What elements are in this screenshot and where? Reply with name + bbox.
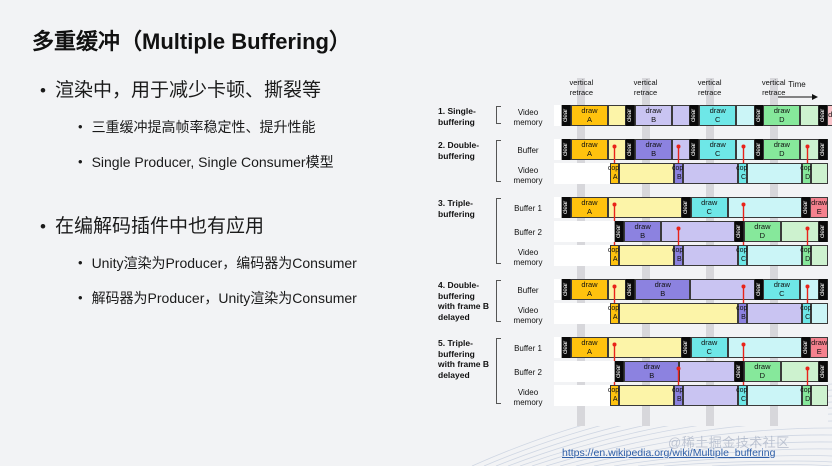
row-label-line2: memory — [514, 176, 543, 185]
clear-block: clear — [690, 105, 699, 126]
clear-block: clear — [562, 337, 571, 358]
row-label-text: Buffer — [517, 146, 538, 155]
timeline-track: cleardrawBcleardrawDclear — [554, 221, 828, 242]
draw-block: drawC — [763, 279, 800, 300]
draw-block: drawE — [810, 197, 828, 218]
row-label-text: Buffer 2 — [514, 368, 542, 377]
bullet-level2-1: • 三重缓冲提高帧率稳定性、提升性能 — [78, 116, 458, 138]
copy-block: copyD — [802, 385, 811, 406]
hold-block — [811, 163, 827, 184]
bullet-marker: • — [78, 287, 83, 309]
bullet-text: 三重缓冲提高帧率稳定性、提升性能 — [92, 116, 316, 138]
row-label-buffer-1: Buffer 1 — [504, 344, 552, 354]
buffering-group-5: 5. Triple-buffering with frame B delayed… — [438, 336, 828, 408]
draw-block: drawD — [763, 105, 800, 126]
idle-block — [781, 221, 819, 242]
timeline-track: copyAcopyBcopyC — [554, 303, 828, 324]
bullet-marker: • — [78, 151, 83, 173]
timeline-track: copyAcopyBcopyCcopyD — [554, 245, 828, 266]
retrace-word-1: vertical — [698, 78, 722, 87]
draw-block: drawC — [699, 105, 736, 126]
row-label-line2: memory — [514, 258, 543, 267]
clear-block: clear — [735, 221, 744, 242]
draw-frame-id: B — [640, 232, 645, 241]
row-label-line2: memory — [514, 118, 543, 127]
draw-frame-id: C — [715, 150, 720, 159]
row-label-buffer-1: Buffer 1 — [504, 204, 552, 214]
group-bracket-3 — [496, 198, 501, 264]
draw-frame-id: B — [660, 290, 665, 299]
clear-block: clear — [615, 361, 624, 382]
draw-frame-id: A — [587, 116, 592, 125]
bullet-marker: • — [40, 214, 46, 240]
draw-frame-id: C — [779, 290, 784, 299]
buffering-group-3: 3. Triple-bufferingBuffer 1cleardrawAcle… — [438, 196, 828, 268]
watermark: @稀土掘金技术社区 — [668, 432, 790, 451]
group-title-1: 1. Single-buffering — [438, 106, 492, 127]
draw-block: drawD — [744, 221, 781, 242]
row-label-buffer: Buffer — [504, 146, 552, 156]
draw-block: drawE — [810, 337, 828, 358]
clear-block: clear — [562, 139, 571, 160]
idle-block — [661, 221, 735, 242]
bullet-level1-2: • 在编解码插件中也有应用 — [40, 214, 458, 240]
draw-frame-id: C — [707, 348, 712, 357]
draw-frame-id: B — [651, 116, 656, 125]
draw-block: drawA — [571, 337, 608, 358]
row-label-line1: Video — [518, 166, 538, 175]
timeline-track: cleardrawAcleardrawBcleardrawCcleardrawD… — [554, 139, 828, 160]
buffering-group-4: 4. Double-buffering with frame B delayed… — [438, 278, 828, 326]
group-title-4: 4. Double-buffering with frame B delayed — [438, 280, 492, 322]
row-label-buffer-2: Buffer 2 — [504, 228, 552, 238]
hold-block — [811, 245, 827, 266]
clear-block: clear — [819, 361, 828, 382]
draw-frame-id: B — [649, 372, 654, 381]
row-label-text: Buffer 1 — [514, 344, 542, 353]
copy-block: copyD — [802, 163, 811, 184]
idle-block — [679, 361, 735, 382]
hold-block — [619, 385, 674, 406]
draw-block: drawC — [699, 139, 736, 160]
copy-block: copyB — [674, 163, 683, 184]
timeline-track: cleardrawAcleardrawCcleardrawE — [554, 197, 828, 218]
clear-block: clear — [626, 139, 635, 160]
row-label-line1: Video — [518, 248, 538, 257]
bullet-marker: • — [78, 116, 83, 138]
idle-block — [672, 105, 690, 126]
draw-block: drawD — [744, 361, 781, 382]
hold-block — [747, 303, 802, 324]
bullet-text: 渲染中，用于减少卡顿、撕裂等 — [55, 78, 321, 104]
draw-frame-id: B — [651, 150, 656, 159]
idle-block — [608, 105, 626, 126]
idle-block — [781, 361, 819, 382]
timeline-track: cleardrawBcleardrawDclear — [554, 361, 828, 382]
bullet-level2-2: • Single Producer, Single Consumer模型 — [78, 151, 458, 173]
group-bracket-4 — [496, 280, 501, 322]
timeline-track: copyAcopyBcopyCcopyD — [554, 163, 828, 184]
hold-block — [747, 163, 802, 184]
clear-block: clear — [682, 197, 691, 218]
bullet-level2-3: • Unity渲染为Producer，编码器为Consumer — [78, 252, 458, 274]
group-bracket-2 — [496, 140, 501, 182]
row-label-video-memory: Videomemory — [504, 108, 552, 127]
copy-block: copyC — [738, 385, 747, 406]
draw-frame-id: A — [587, 208, 592, 217]
clear-block: clear — [819, 105, 828, 126]
vertical-spacer — [32, 186, 458, 214]
clear-block: clear — [562, 279, 571, 300]
clear-block: clear — [735, 361, 744, 382]
draw-block: drawA — [571, 105, 608, 126]
group-bracket-1 — [496, 106, 501, 124]
timeline-track: cleardrawAcleardrawBcleardrawCclear — [554, 279, 828, 300]
draw-block: drawC — [691, 337, 728, 358]
draw-frame-id: D — [779, 116, 784, 125]
bullet-marker: • — [40, 78, 46, 104]
draw-block: drawD — [763, 139, 800, 160]
draw-block: drawB — [635, 105, 672, 126]
draw-frame-id: E — [817, 208, 822, 217]
draw-block: drawA — [571, 279, 608, 300]
copy-block: copyA — [610, 303, 619, 324]
row-label-text: Buffer 1 — [514, 204, 542, 213]
buffering-group-1: 1. Single-bufferingVideomemorycleardrawA… — [438, 104, 828, 128]
clear-block: clear — [819, 139, 828, 160]
row-label-video-memory: Videomemory — [504, 388, 552, 407]
copy-block: copyB — [738, 303, 747, 324]
draw-frame-id: A — [587, 290, 592, 299]
draw-block: drawB — [635, 139, 672, 160]
draw-frame-id: D — [760, 232, 765, 241]
copy-block: copyB — [674, 385, 683, 406]
copy-block: copyC — [802, 303, 811, 324]
page-title: 多重缓冲（Multiple Buffering） — [32, 24, 458, 56]
clear-block: clear — [562, 105, 571, 126]
group-title-5: 5. Triple-buffering with frame B delayed — [438, 338, 492, 380]
row-label-video-memory: Videomemory — [504, 248, 552, 267]
hold-block — [619, 303, 738, 324]
clear-block: clear — [755, 105, 764, 126]
slide-content-left: 多重缓冲（Multiple Buffering） • 渲染中，用于减少卡顿、撕裂… — [0, 0, 470, 466]
diagram-header: verticalretraceverticalretraceverticalre… — [438, 78, 828, 104]
draw-frame-id: D — [779, 150, 784, 159]
timeline-track: cleardrawAcleardrawCcleardrawE — [554, 337, 828, 358]
draw-frame-id: C — [707, 208, 712, 217]
vertical-retrace-label-2: verticalretrace — [618, 78, 674, 97]
retrace-word-2: retrace — [634, 88, 657, 97]
row-label-line1: Video — [518, 388, 538, 397]
clear-block: clear — [819, 221, 828, 242]
clear-block: clear — [626, 105, 635, 126]
clear-block: clear — [690, 139, 699, 160]
copy-block: copyC — [738, 163, 747, 184]
bullet-text: 解码器为Producer，Unity渲染为Consumer — [92, 287, 357, 309]
idle-block — [736, 105, 754, 126]
clear-block: clear — [615, 221, 624, 242]
clear-block: clear — [802, 337, 811, 358]
vertical-retrace-label-3: verticalretrace — [682, 78, 738, 97]
draw-block: drawB — [635, 279, 690, 300]
hold-block — [619, 245, 674, 266]
group-title-3: 3. Triple-buffering — [438, 198, 492, 219]
copy-block: copyD — [802, 245, 811, 266]
row-label-buffer-2: Buffer 2 — [504, 368, 552, 378]
clear-block: clear — [819, 279, 828, 300]
retrace-word-2: retrace — [698, 88, 721, 97]
bullet-level2-4: • 解码器为Producer，Unity渲染为Consumer — [78, 287, 458, 309]
clear-block: clear — [626, 279, 635, 300]
vertical-retrace-label-1: verticalretrace — [553, 78, 609, 97]
copy-block: copyA — [610, 245, 619, 266]
timeline-track: cleardrawAcleardrawBcleardrawCcleardrawD… — [554, 105, 828, 126]
row-label-line2: memory — [514, 316, 543, 325]
timeline-track: copyAcopyBcopyCcopyD — [554, 385, 828, 406]
group-bracket-5 — [496, 338, 501, 404]
draw-label: d — [828, 111, 832, 120]
retrace-word-1: vertical — [570, 78, 594, 87]
clear-block: clear — [755, 279, 764, 300]
time-axis-label: Time — [776, 80, 818, 89]
group-title-2: 2. Double-buffering — [438, 140, 492, 161]
copy-block: copyA — [610, 385, 619, 406]
draw-frame-id: A — [587, 150, 592, 159]
clear-block: clear — [562, 197, 571, 218]
hold-block — [747, 385, 802, 406]
copy-block: copyC — [738, 245, 747, 266]
clear-block: clear — [802, 197, 811, 218]
draw-block: drawB — [624, 361, 679, 382]
draw-frame-id: D — [760, 372, 765, 381]
retrace-word-2: retrace — [570, 88, 593, 97]
bullet-level1-1: • 渲染中，用于减少卡顿、撕裂等 — [40, 78, 458, 104]
idle-block — [800, 105, 818, 126]
bullet-text: Unity渲染为Producer，编码器为Consumer — [92, 252, 357, 274]
hold-block — [683, 385, 738, 406]
clear-block: clear — [682, 337, 691, 358]
hold-block — [811, 385, 827, 406]
draw-block: drawC — [691, 197, 728, 218]
row-label-line1: Video — [518, 108, 538, 117]
draw-block: d — [827, 105, 832, 126]
draw-block: drawB — [624, 221, 661, 242]
bullet-marker: • — [78, 252, 83, 274]
draw-frame-id: E — [817, 348, 822, 357]
hold-block — [811, 303, 827, 324]
draw-frame-id: C — [715, 116, 720, 125]
clear-block: clear — [755, 139, 764, 160]
copy-block: copyA — [610, 163, 619, 184]
bullet-text: Single Producer, Single Consumer模型 — [92, 151, 334, 173]
copy-block: copyB — [674, 245, 683, 266]
multiple-buffering-timeline-diagram: verticalretraceverticalretraceverticalre… — [438, 78, 828, 426]
row-label-video-memory: Videomemory — [504, 166, 552, 185]
hold-block — [747, 245, 802, 266]
draw-block: drawA — [571, 197, 608, 218]
draw-block: drawA — [571, 139, 608, 160]
time-arrow-icon — [776, 93, 818, 101]
row-label-line2: memory — [514, 398, 543, 407]
row-label-line1: Video — [518, 306, 538, 315]
row-label-text: Buffer — [517, 286, 538, 295]
hold-block — [683, 163, 738, 184]
bullet-text: 在编解码插件中也有应用 — [55, 214, 264, 240]
hold-block — [619, 163, 674, 184]
draw-frame-id: A — [587, 348, 592, 357]
retrace-word-1: vertical — [634, 78, 658, 87]
row-label-text: Buffer 2 — [514, 228, 542, 237]
row-label-video-memory: Videomemory — [504, 306, 552, 325]
hold-block — [683, 245, 738, 266]
row-label-buffer: Buffer — [504, 286, 552, 296]
buffering-group-2: 2. Double-bufferingBuffercleardrawAclear… — [438, 138, 828, 186]
